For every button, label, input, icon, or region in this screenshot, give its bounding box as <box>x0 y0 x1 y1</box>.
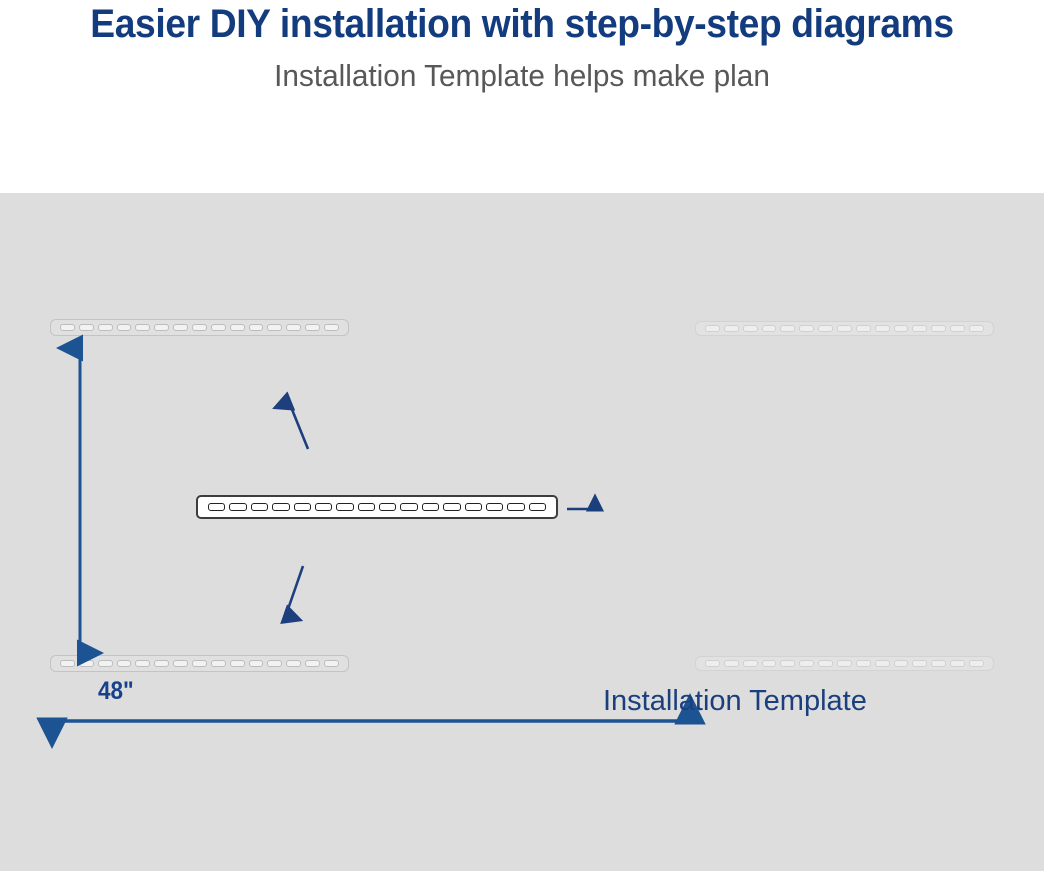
rail-slot <box>315 503 332 511</box>
rail-slot <box>272 503 289 511</box>
rail-template <box>196 495 558 519</box>
rail-slot <box>969 325 984 332</box>
canvas-bottom-edge <box>0 871 1044 878</box>
rail-slot <box>743 325 758 332</box>
rail-slot <box>875 660 890 667</box>
rail-slot <box>135 324 150 331</box>
rail-slot <box>286 660 301 667</box>
rail-slot <box>208 503 225 511</box>
rail-slot <box>950 325 965 332</box>
rail-top-right <box>695 321 994 336</box>
diagram-canvas: 48" 72" Installation Template <box>0 193 1044 871</box>
rail-slot <box>837 325 852 332</box>
header: Easier DIY installation with step-by-ste… <box>0 0 1044 193</box>
rail-slot <box>705 660 720 667</box>
rail-slot <box>780 325 795 332</box>
rail-slot <box>894 325 909 332</box>
rail-bottom-left <box>50 655 349 672</box>
rail-slot <box>799 325 814 332</box>
rail-slot <box>912 660 927 667</box>
rail-slot <box>154 324 169 331</box>
rail-slot <box>230 324 245 331</box>
rail-slot <box>762 325 777 332</box>
rail-slot <box>173 660 188 667</box>
rail-slot <box>705 325 720 332</box>
rail-bottom-right <box>695 656 994 671</box>
rail-slot <box>969 660 984 667</box>
rail-slot <box>799 660 814 667</box>
rail-slot <box>230 660 245 667</box>
rail-slot <box>135 660 150 667</box>
rail-slot <box>249 324 264 331</box>
rail-slot <box>229 503 246 511</box>
rail-slot <box>443 503 460 511</box>
rail-slot <box>211 324 226 331</box>
rail-slot <box>324 660 339 667</box>
rail-slot <box>79 660 94 667</box>
rail-slot <box>931 325 946 332</box>
rail-slot <box>305 660 320 667</box>
rail-slot <box>818 660 833 667</box>
rail-slot <box>192 324 207 331</box>
rail-slot <box>856 325 871 332</box>
rail-slot <box>249 660 264 667</box>
rail-slot <box>305 324 320 331</box>
rail-slot <box>267 324 282 331</box>
rail-slot <box>894 660 909 667</box>
rail-slot <box>931 660 946 667</box>
rail-slot <box>192 660 207 667</box>
installation-template-label: Installation Template <box>603 685 867 718</box>
rail-slot <box>762 660 777 667</box>
rail-slot <box>875 325 890 332</box>
rail-slot <box>251 503 268 511</box>
rail-slot <box>211 660 226 667</box>
rail-slot <box>173 324 188 331</box>
rail-slot <box>837 660 852 667</box>
rail-slot <box>912 325 927 332</box>
rail-slot <box>422 503 439 511</box>
rail-slot <box>950 660 965 667</box>
rail-slot <box>60 660 75 667</box>
rail-slot <box>267 660 282 667</box>
rail-slot <box>743 660 758 667</box>
rail-slot <box>724 325 739 332</box>
rail-slot <box>79 324 94 331</box>
rail-slot <box>286 324 301 331</box>
rail-slot <box>98 324 113 331</box>
rail-slot <box>465 503 482 511</box>
dimension-label-48: 48" <box>98 677 134 706</box>
page-title: Easier DIY installation with step-by-ste… <box>37 2 1008 47</box>
rail-slot <box>294 503 311 511</box>
rail-slot <box>379 503 396 511</box>
rail-slot <box>336 503 353 511</box>
rail-slot <box>358 503 375 511</box>
arrow-layer <box>0 193 1044 871</box>
rail-slot <box>117 324 132 331</box>
rail-top-left <box>50 319 349 336</box>
rail-slot <box>780 660 795 667</box>
rail-slot <box>856 660 871 667</box>
rail-slot <box>154 660 169 667</box>
callout-arrow-down-icon <box>286 566 303 615</box>
rail-slot <box>486 503 503 511</box>
page-subtitle: Installation Template helps make plan <box>21 58 1023 94</box>
rail-slot <box>98 660 113 667</box>
rail-slot <box>818 325 833 332</box>
rail-slot <box>507 503 524 511</box>
rail-slot <box>529 503 546 511</box>
rail-slot <box>324 324 339 331</box>
callout-arrow-up-icon <box>289 402 308 449</box>
rail-slot <box>117 660 132 667</box>
rail-slot <box>724 660 739 667</box>
rail-slot <box>400 503 417 511</box>
rail-slot <box>60 324 75 331</box>
